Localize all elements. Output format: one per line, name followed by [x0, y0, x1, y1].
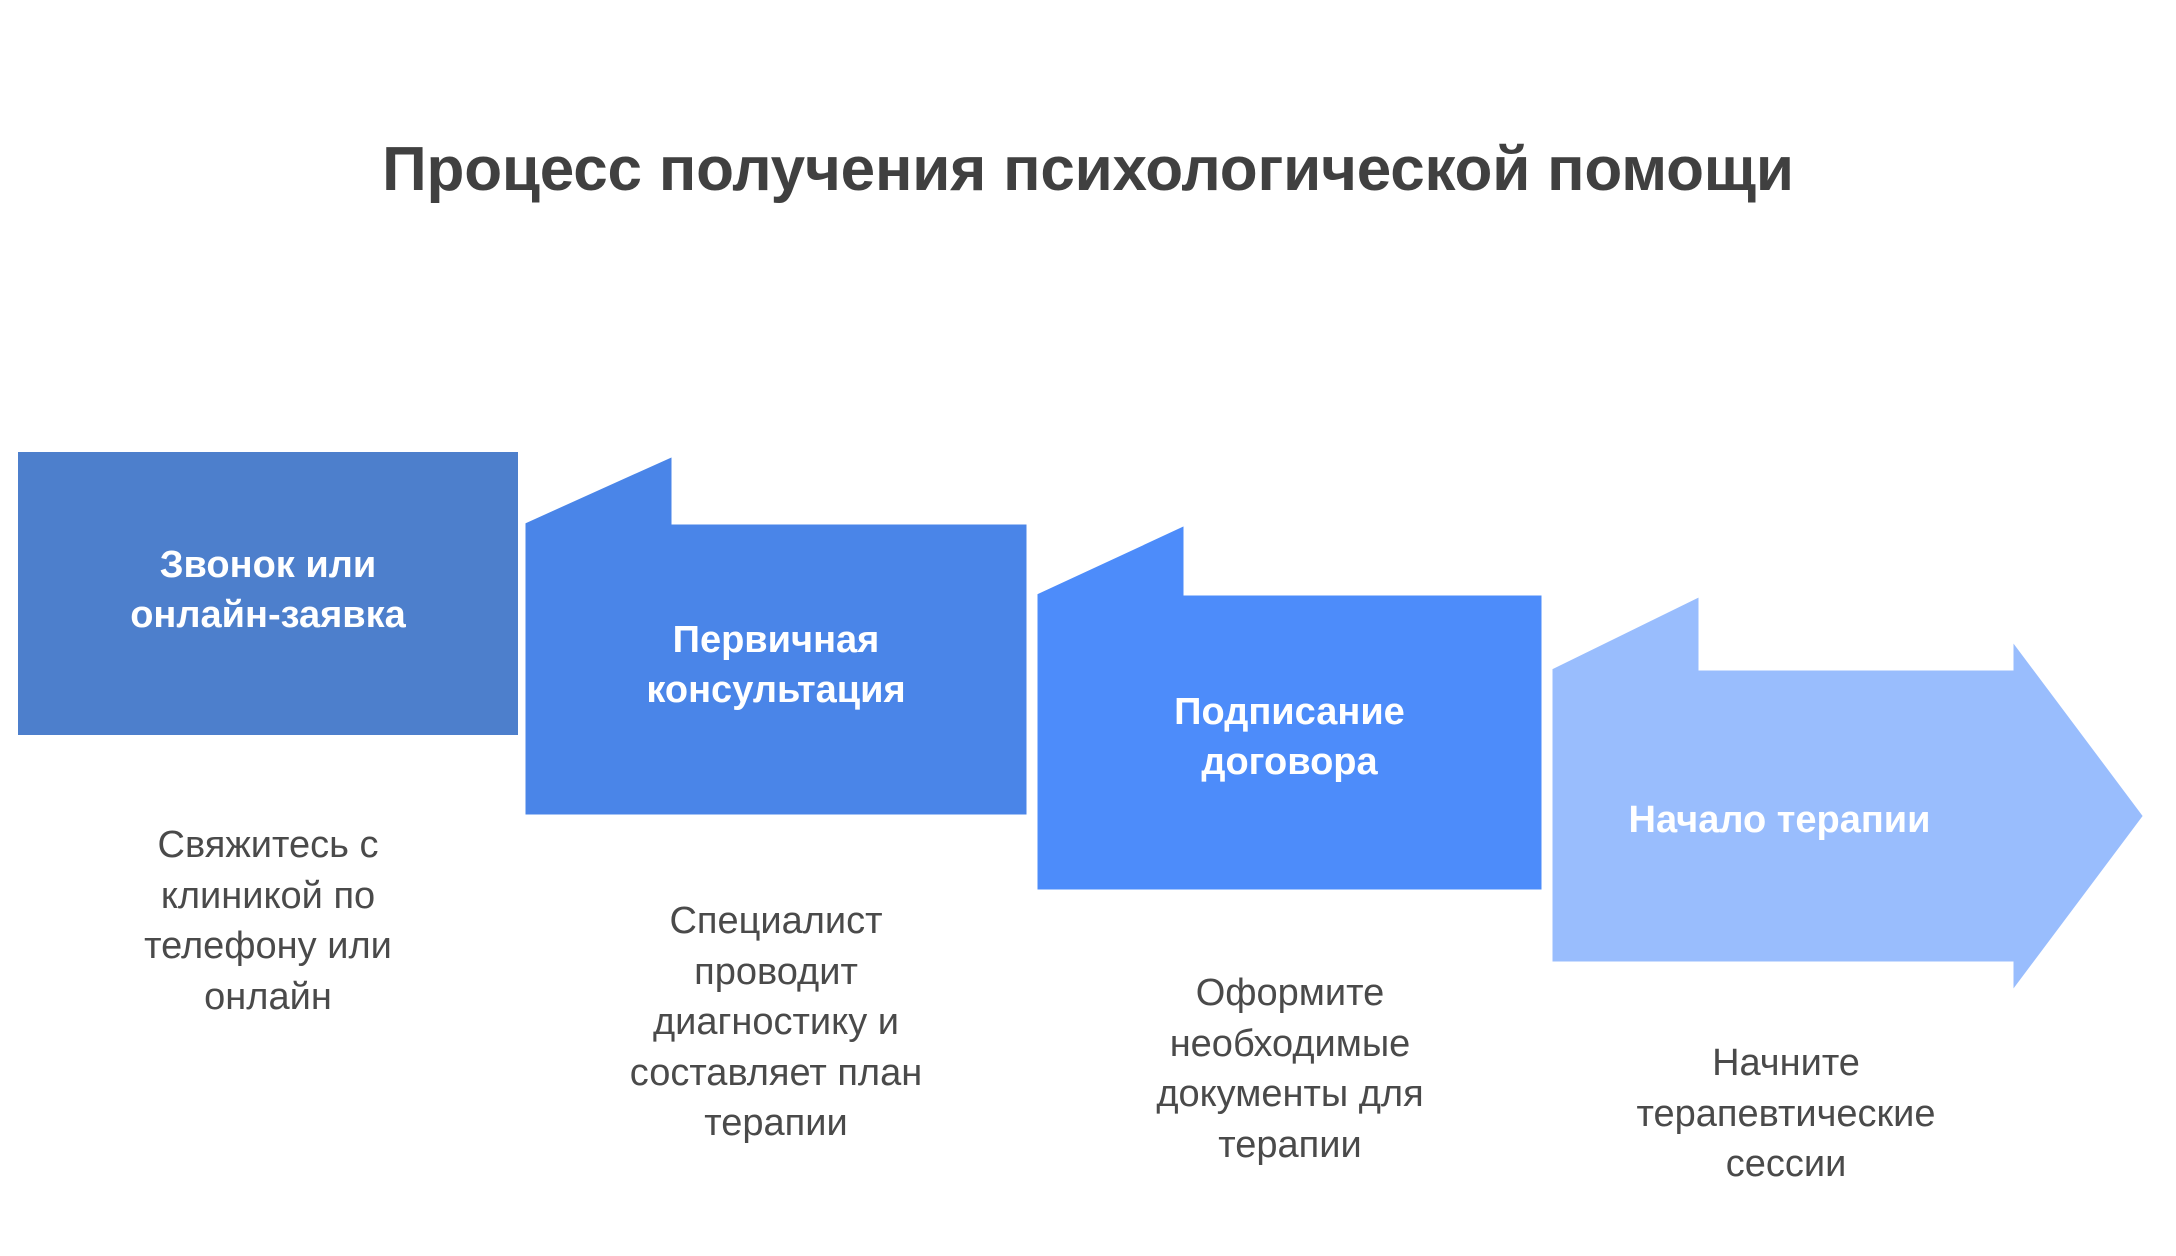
step-shape-3[interactable]: [1034, 521, 1545, 893]
step-caption-1-line-2: клиникой по: [36, 871, 500, 922]
step-caption-2-line-2: проводит: [546, 947, 1006, 998]
step-caption-1-line-1: Свяжитесь с: [36, 820, 500, 871]
step-caption-3: Оформите необходимые документы для терап…: [1058, 968, 1522, 1170]
step-caption-4-line-3: сессии: [1556, 1139, 2016, 1190]
step-caption-4-line-2: терапевтические: [1556, 1089, 2016, 1140]
slide-canvas: Процесс получения психологической помощи…: [0, 0, 2176, 1256]
step-caption-1: Свяжитесь с клиникой по телефону или онл…: [36, 820, 500, 1022]
step-caption-2-line-4: составляет план: [546, 1048, 1006, 1099]
step-caption-3-line-4: терапии: [1058, 1120, 1522, 1171]
step-shape-1[interactable]: [18, 452, 518, 735]
step-caption-3-line-1: Оформите: [1058, 968, 1522, 1019]
step-caption-2-line-3: диагностику и: [546, 997, 1006, 1048]
step-caption-2-line-1: Специалист: [546, 896, 1006, 947]
step-shape-2[interactable]: [522, 452, 1030, 818]
step-caption-2: Специалист проводит диагностику и состав…: [546, 896, 1006, 1149]
step-caption-4-line-1: Начните: [1556, 1038, 2016, 1089]
step-caption-1-line-3: телефону или: [36, 921, 500, 972]
step-caption-1-line-4: онлайн: [36, 972, 500, 1023]
step-shape-4[interactable]: [1549, 592, 2147, 999]
step-caption-3-line-2: необходимые: [1058, 1019, 1522, 1070]
step-caption-3-line-3: документы для: [1058, 1069, 1522, 1120]
step-caption-4: Начните терапевтические сессии: [1556, 1038, 2016, 1190]
step-caption-2-line-5: терапии: [546, 1098, 1006, 1149]
